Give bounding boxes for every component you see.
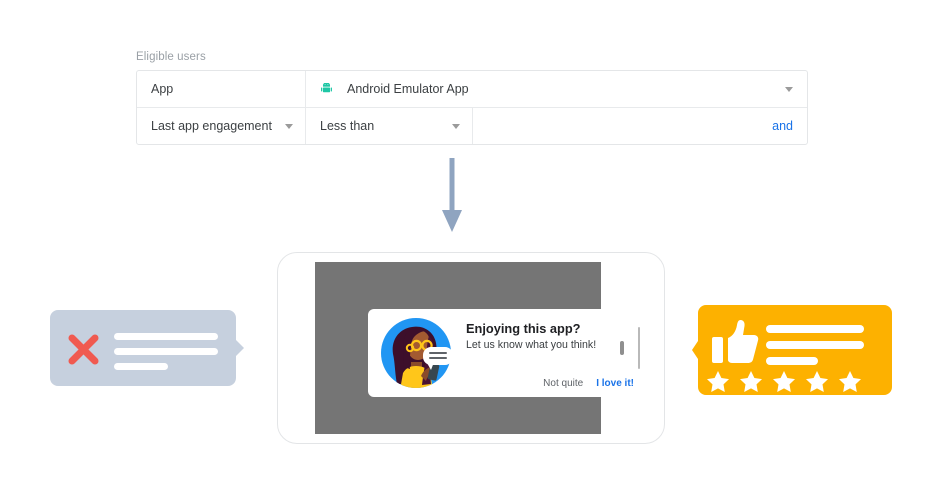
app-value-caret-wrap[interactable] bbox=[775, 87, 793, 92]
condition-row-app: App Android Emulator App bbox=[137, 71, 807, 107]
in-app-rating-dialog: Enjoying this app? Let us know what you … bbox=[368, 309, 648, 397]
chevron-down-icon bbox=[452, 124, 460, 129]
metric-dimension-label: Last app engagement bbox=[151, 119, 272, 133]
app-value-field[interactable]: Android Emulator App bbox=[305, 71, 807, 107]
speaker-icon bbox=[620, 341, 624, 355]
chevron-down-icon bbox=[285, 124, 293, 129]
woman-with-phone-illustration bbox=[368, 309, 464, 397]
audience-form-section: Eligible users App Android Emulator App bbox=[136, 50, 808, 145]
dialog-actions: Not quite I love it! bbox=[466, 378, 634, 389]
app-dimension-label: App bbox=[151, 82, 173, 96]
condition-card: App Android Emulator App bbox=[136, 70, 808, 145]
home-button-icon[interactable] bbox=[638, 327, 640, 369]
metric-dimension-field[interactable]: Last app engagement bbox=[137, 108, 305, 144]
dialog-subtitle: Let us know what you think! bbox=[466, 339, 634, 352]
eligible-users-label: Eligible users bbox=[136, 50, 808, 64]
phone-mockup: Enjoying this app? Let us know what you … bbox=[277, 252, 665, 444]
app-value-label: Android Emulator App bbox=[347, 82, 469, 96]
negative-outcome-card bbox=[50, 310, 244, 386]
operator-field[interactable]: Less than bbox=[305, 108, 473, 144]
condition-row-engagement: Last app engagement Less than and bbox=[137, 107, 807, 144]
and-link[interactable]: and bbox=[772, 119, 793, 133]
positive-outcome-card bbox=[692, 305, 892, 395]
condition-value-field[interactable]: and bbox=[473, 108, 807, 144]
chevron-down-icon bbox=[785, 87, 793, 92]
down-arrow-icon bbox=[441, 158, 463, 234]
dialog-title: Enjoying this app? bbox=[466, 321, 634, 336]
app-dimension-field[interactable]: App bbox=[137, 71, 305, 107]
operator-label: Less than bbox=[320, 119, 374, 133]
i-love-it-button[interactable]: I love it! bbox=[596, 378, 634, 389]
not-quite-button[interactable]: Not quite bbox=[543, 378, 583, 389]
phone-screen: Enjoying this app? Let us know what you … bbox=[315, 262, 601, 434]
android-robot-icon bbox=[320, 83, 333, 96]
